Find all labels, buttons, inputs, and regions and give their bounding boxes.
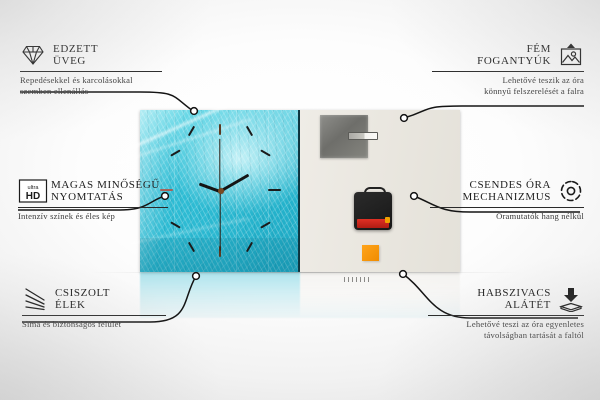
feature-title: EDZETT ÜVEG <box>53 43 98 68</box>
divider <box>432 71 584 72</box>
feature-subtitle: Óramutatók hang nélkül <box>430 211 584 222</box>
divider <box>20 71 162 72</box>
clock-hand-second <box>219 191 220 251</box>
feature-subtitle: Lehetővé teszi az óra egyenletes távolsá… <box>428 319 584 340</box>
feature-polished-edges[interactable]: CSISZOLT ÉLEK Sima és biztonságos felüle… <box>22 286 168 330</box>
feature-foam-spacer[interactable]: HABSZIVACS ALÁTÉT Lehetővé teszi az óra … <box>428 286 584 340</box>
gear-icon <box>558 178 584 204</box>
product-image <box>140 110 460 272</box>
divider <box>22 315 166 316</box>
foam-pad-icon <box>558 286 584 312</box>
feature-title: FÉM FOGANTYÚK <box>477 43 551 68</box>
feature-title: MAGAS MINŐSÉGŰ NYOMTATÁS <box>51 179 160 204</box>
divider <box>428 315 584 316</box>
feature-title: CSENDES ÓRA MECHANIZMUS <box>463 179 552 204</box>
feature-subtitle: Lehetővé teszik az óra könnyű felszerelé… <box>432 75 584 96</box>
feature-subtitle: Sima és biztonságos felület <box>22 319 168 330</box>
surface-line <box>90 272 520 273</box>
foam-spacer-pad <box>362 245 379 261</box>
diamond-icon <box>20 42 46 68</box>
ultra-hd-icon: ultra HD <box>18 178 44 204</box>
feature-tempered-glass[interactable]: EDZETT ÜVEG Repedésekkel és karcolásokka… <box>20 42 170 96</box>
ultra-hd-main-label: HD <box>26 191 40 202</box>
feature-title: HABSZIVACS ALÁTÉT <box>477 287 551 312</box>
divider <box>430 207 584 208</box>
product-reflection <box>140 272 460 318</box>
clock-center-cap <box>218 188 224 194</box>
feature-subtitle: Intenzív színek és éles kép <box>18 211 170 222</box>
feature-metal-handles[interactable]: FÉM FOGANTYÚK Lehetővé teszik az óra kön… <box>432 42 584 96</box>
polished-edge-icon <box>22 286 48 312</box>
infographic-canvas: EDZETT ÜVEG Repedésekkel és karcolásokka… <box>0 0 600 400</box>
clock-tick <box>219 124 221 135</box>
metal-hanger-plate <box>320 115 368 158</box>
clock-tick <box>268 189 281 191</box>
picture-hanger-icon <box>558 42 584 68</box>
feature-title: CSISZOLT ÉLEK <box>55 287 110 312</box>
divider <box>18 207 168 208</box>
feature-silent-mechanism[interactable]: CSENDES ÓRA MECHANIZMUS Óramutatók hang … <box>430 178 584 222</box>
feature-high-quality-print[interactable]: ultra HD MAGAS MINŐSÉGŰ NYOMTATÁS Intenz… <box>18 178 170 222</box>
feature-subtitle: Repedésekkel és karcolásokkal szemben el… <box>20 75 170 96</box>
